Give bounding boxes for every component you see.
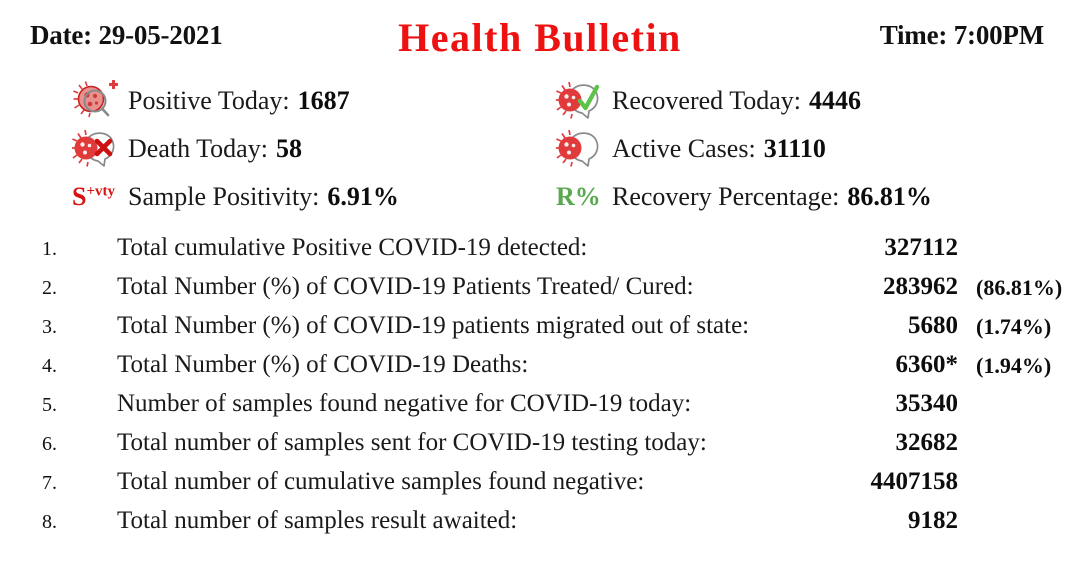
stat-label: Recovered Today: [612,86,801,116]
stat-sample-positivity: S+vty Sample Positivity: 6.91% [72,174,399,220]
row-value: 283962 [700,273,958,301]
stat-value: 1687 [298,86,350,116]
spos-superscript: +vty [86,183,115,199]
row-label: Total Number (%) of COVID-19 patients mi… [117,312,749,340]
rpct-letter: R% [556,184,601,210]
stat-label: Recovery Percentage: [612,182,839,212]
row-number: 8. [42,511,57,534]
row-number: 6. [42,433,57,456]
bulletin-header: Date: 29-05-2021 Health Bulletin Time: 7… [0,14,1080,62]
row-number: 1. [42,238,57,261]
stat-recovered-today: Recovered Today: 4446 [556,78,861,124]
virus-magnifier-icon [72,80,128,122]
stat-value: 86.81% [847,182,932,212]
stat-death-today: Death Today: 58 [72,126,302,172]
stat-value: 58 [276,134,302,164]
row-value: 9182 [700,507,958,535]
row-number: 3. [42,316,57,339]
row-percent: (86.81%) [976,275,1062,301]
row-label: Total number of cumulative samples found… [117,468,644,496]
stat-label: Active Cases: [612,134,756,164]
statistics-list: 1. Total cumulative Positive COVID-19 de… [0,232,1080,544]
stat-value: 4446 [809,86,861,116]
row-percent: (1.74%) [976,314,1051,340]
sample-positivity-symbol: S+vty [72,176,128,218]
row-value: 4407158 [700,468,958,496]
list-item: 2. Total Number (%) of COVID-19 Patients… [0,271,1080,310]
row-label: Number of samples found negative for COV… [117,390,691,418]
row-label: Total Number (%) of COVID-19 Deaths: [117,351,528,379]
stat-positive-today: Positive Today: 1687 [72,78,350,124]
row-number: 5. [42,394,57,417]
row-label: Total number of samples sent for COVID-1… [117,429,707,457]
row-value: 35340 [700,390,958,418]
row-value: 327112 [700,234,958,262]
row-label: Total number of samples result awaited: [117,507,517,535]
row-value: 32682 [700,429,958,457]
stat-active-cases: Active Cases: 31110 [556,126,826,172]
list-item: 6. Total number of samples sent for COVI… [0,427,1080,466]
list-item: 3. Total Number (%) of COVID-19 patients… [0,310,1080,349]
row-value: 6360* [700,351,958,379]
stat-recovery-percentage: R% Recovery Percentage: 86.81% [556,174,932,220]
row-number: 7. [42,472,57,495]
stat-label: Death Today: [128,134,268,164]
stat-value: 31110 [764,134,826,164]
list-item: 5. Number of samples found negative for … [0,388,1080,427]
bulletin-time: Time: 7:00PM [880,20,1044,51]
virus-recovered-check-icon [556,80,612,122]
list-item: 8. Total number of samples result awaite… [0,505,1080,544]
row-percent: (1.94%) [976,353,1051,379]
row-value: 5680 [700,312,958,340]
stat-label: Sample Positivity: [128,182,319,212]
list-item: 4. Total Number (%) of COVID-19 Deaths: … [0,349,1080,388]
virus-active-head-icon [556,128,612,170]
row-number: 4. [42,355,57,378]
virus-death-cross-icon [72,128,128,170]
list-item: 7. Total number of cumulative samples fo… [0,466,1080,505]
row-label: Total cumulative Positive COVID-19 detec… [117,234,587,262]
stat-value: 6.91% [327,182,399,212]
summary-stats: Positive Today: 1687 [0,76,1080,216]
row-number: 2. [42,277,57,300]
spos-letter: S [72,182,86,211]
stat-label: Positive Today: [128,86,290,116]
list-item: 1. Total cumulative Positive COVID-19 de… [0,232,1080,271]
row-label: Total Number (%) of COVID-19 Patients Tr… [117,273,694,301]
recovery-percentage-symbol: R% [556,176,612,218]
